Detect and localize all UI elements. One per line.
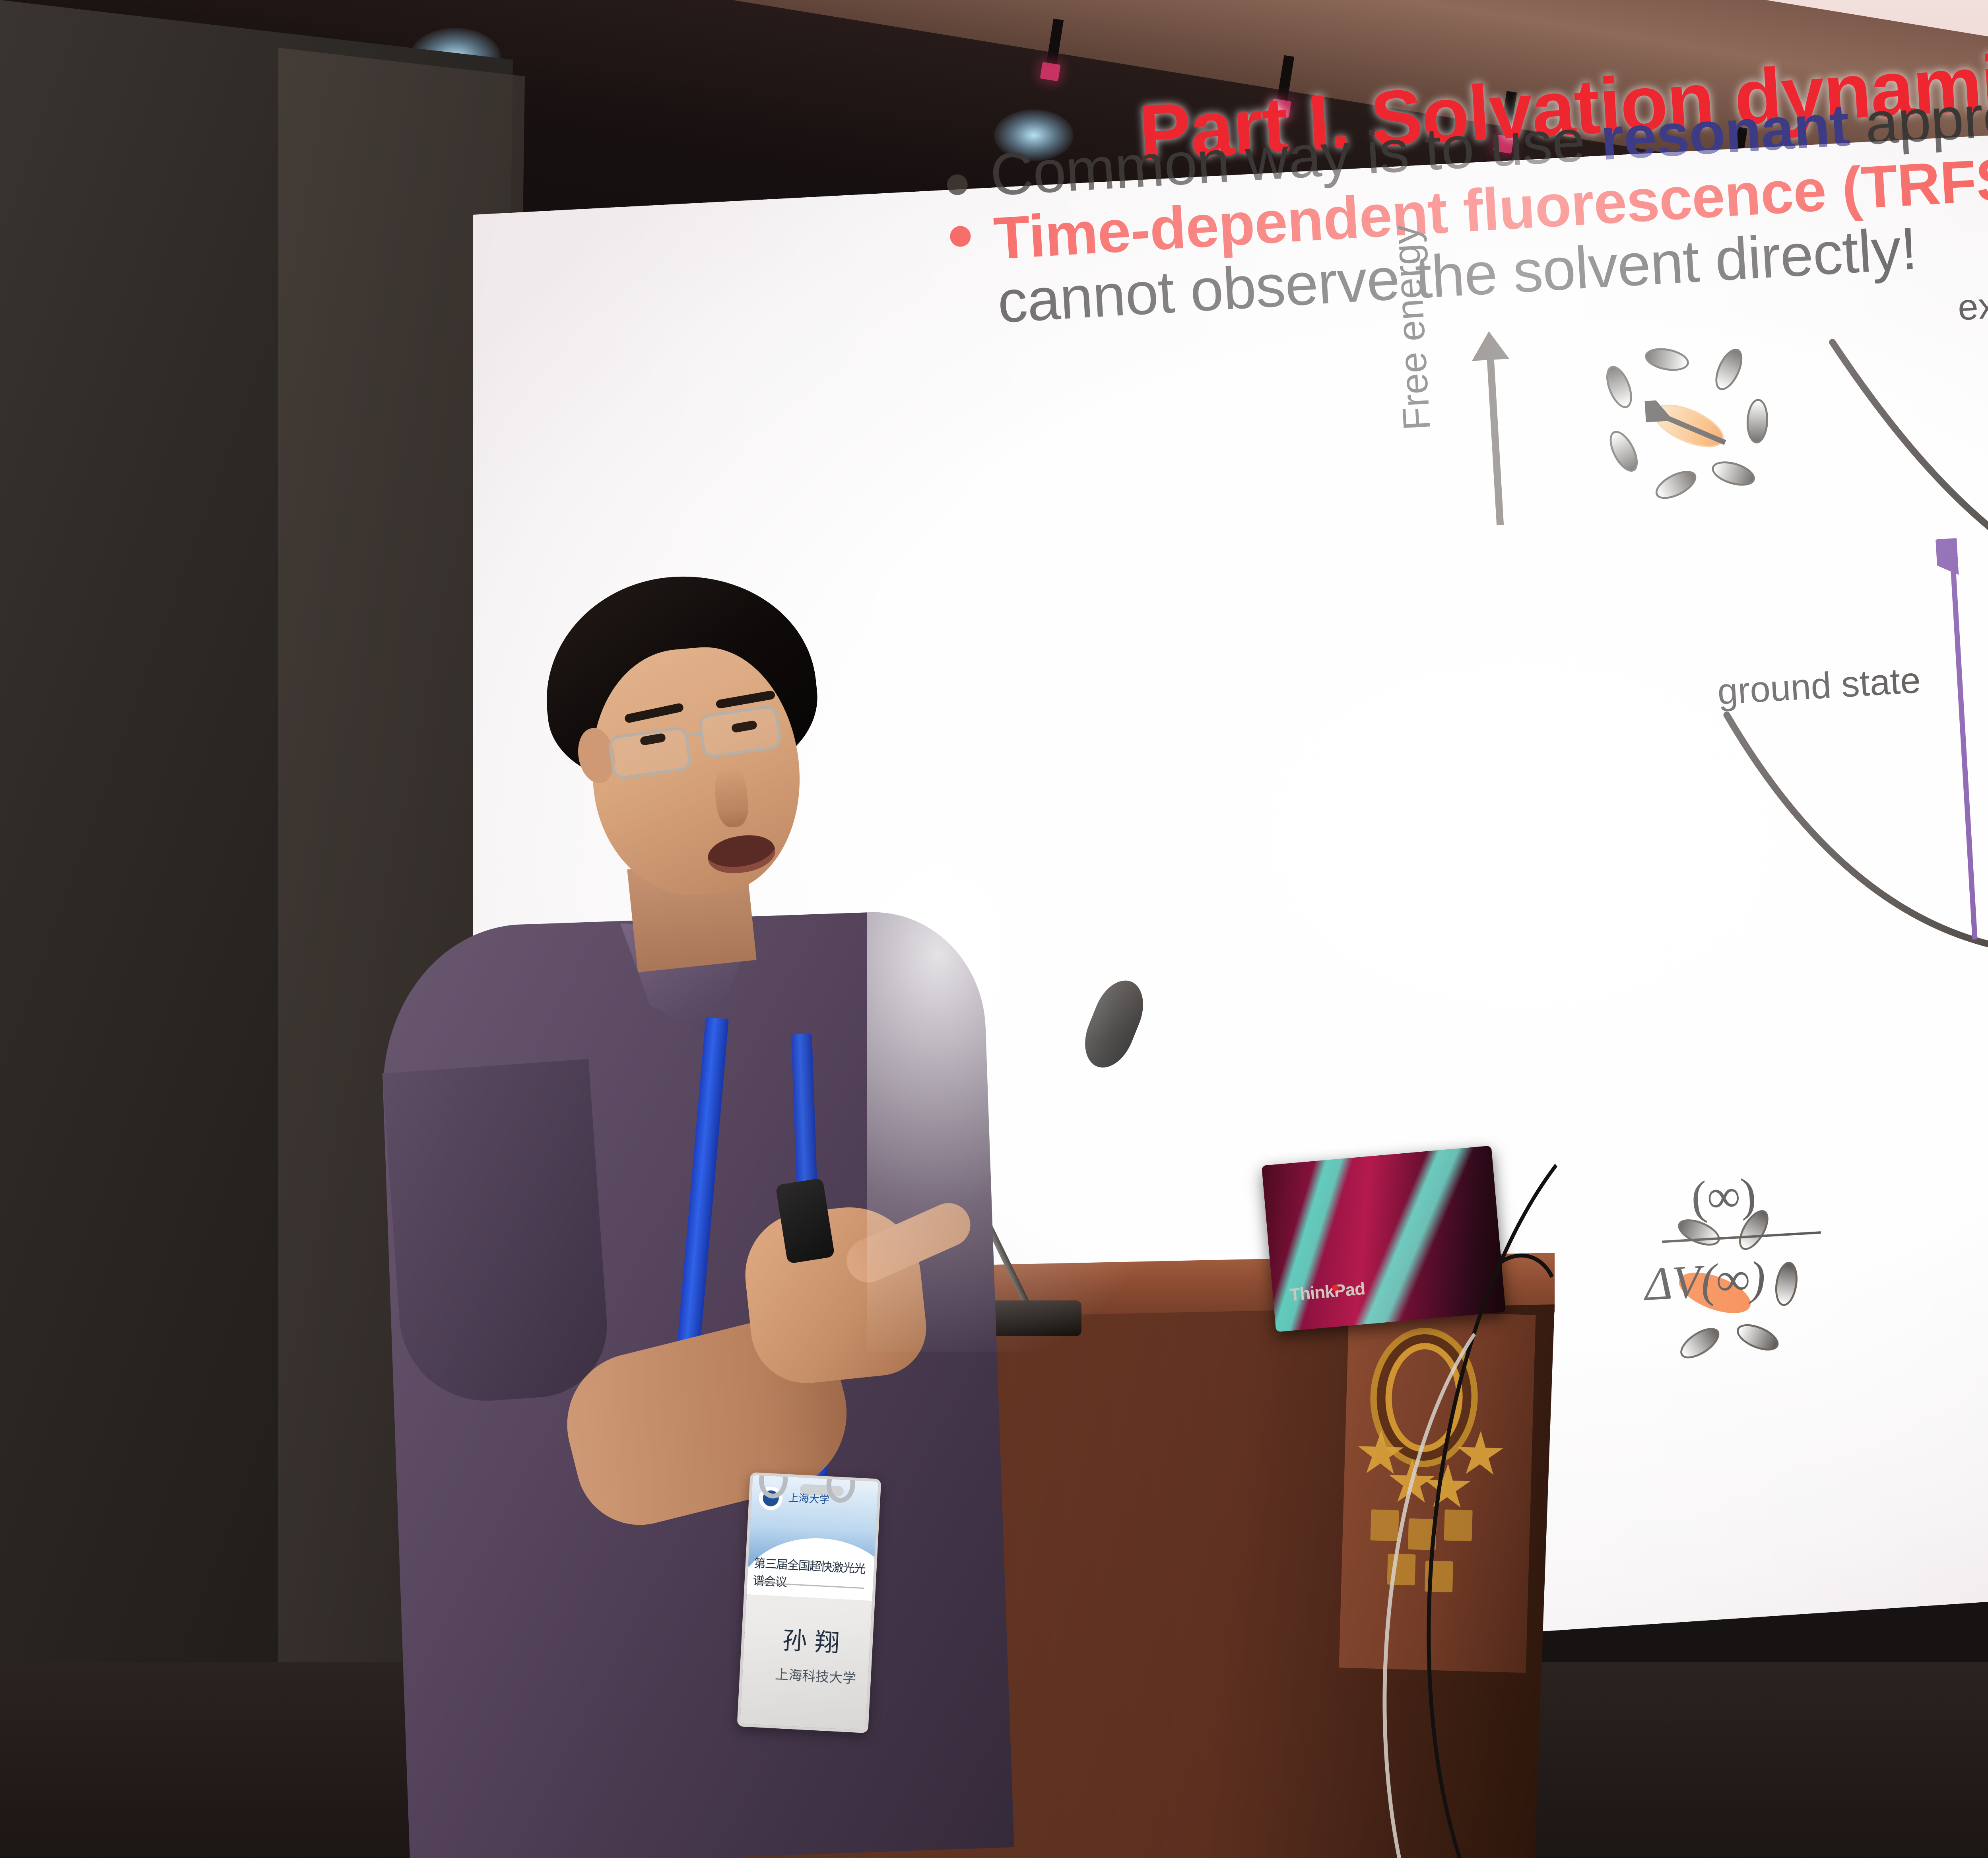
solvation-shell-1 (1586, 332, 1802, 519)
solvent-molecule (1643, 345, 1691, 374)
photo-scene: Part I. Solvation dynamics Common way is… (0, 0, 1988, 1858)
solvent-molecule (1745, 398, 1769, 444)
badge-org-line: 上海大学 (788, 1490, 830, 1506)
solvent-molecule (1601, 362, 1637, 412)
emblem-character (1370, 1509, 1399, 1541)
solvent-molecule (1651, 465, 1701, 505)
badge-affiliation-line: 上海科技大学 (775, 1664, 856, 1687)
bullet-marker-1 (946, 174, 968, 196)
badge-name-line: 孙 翔 (782, 1620, 841, 1659)
free-energy-axis-line (1487, 354, 1504, 525)
dipole-arrow (1645, 396, 1739, 457)
presenter-laptop[interactable]: ThinkPad (1262, 1146, 1506, 1332)
presenter: 上海大学 第三届全国超快激光光谱会议 孙 翔 上海科技大学 (346, 569, 1022, 1858)
solvent-molecule (1709, 457, 1758, 490)
solvent-molecule (1710, 345, 1748, 394)
free-energy-axis-arrowhead (1470, 330, 1509, 361)
bullet-marker-2 (949, 225, 971, 247)
solvent-molecule (1604, 427, 1643, 476)
presenter-sleeve (382, 1059, 612, 1407)
conference-badge: 上海大学 第三届全国超快激光光谱会议 孙 翔 上海科技大学 (737, 1472, 881, 1733)
